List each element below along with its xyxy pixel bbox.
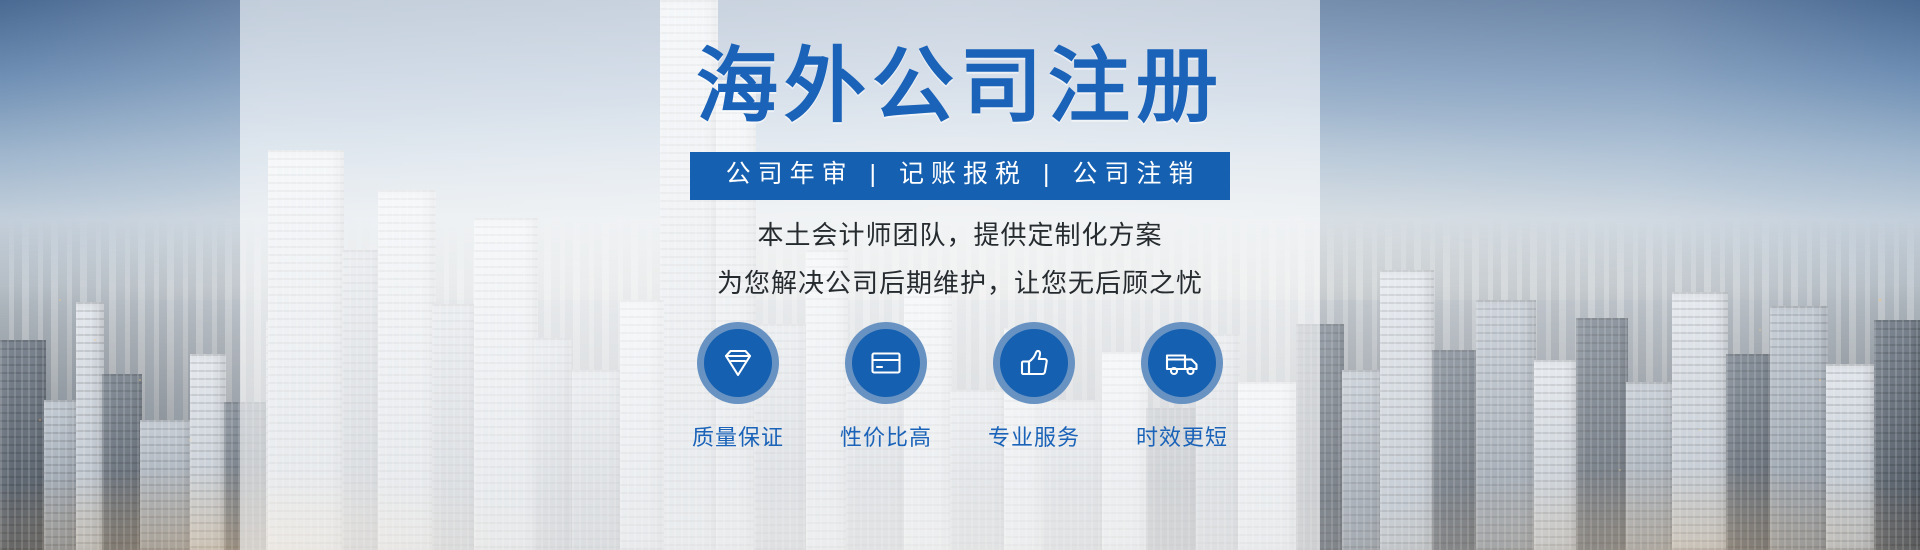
- service-item-3: 公司注销: [1072, 160, 1200, 188]
- truck-icon: [1141, 322, 1223, 404]
- service-item-1: 公司年审: [726, 160, 854, 188]
- service-separator-1: |: [868, 160, 886, 188]
- service-bar: 公司年审 | 记账报税 | 公司注销: [690, 152, 1231, 200]
- thumbs-up-icon: [993, 322, 1075, 404]
- banner-title: 海外公司注册: [696, 46, 1224, 128]
- feature-label: 专业服务: [988, 420, 1080, 452]
- feature-list: 质量保证 性价比高: [689, 322, 1231, 452]
- hero-banner: 海外公司注册 公司年审 | 记账报税 | 公司注销 本土会计师团队，提供定制化方…: [0, 0, 1920, 550]
- credit-card-icon: [845, 322, 927, 404]
- banner-content: 海外公司注册 公司年审 | 记账报税 | 公司注销 本土会计师团队，提供定制化方…: [0, 0, 1920, 550]
- description-line-1: 本土会计师团队，提供定制化方案: [757, 222, 1162, 248]
- service-item-2: 记账报税: [899, 160, 1027, 188]
- feature-item-speed[interactable]: 时效更短: [1133, 322, 1231, 452]
- feature-item-value[interactable]: 性价比高: [837, 322, 935, 452]
- feature-label: 质量保证: [692, 420, 784, 452]
- feature-label: 性价比高: [840, 420, 932, 452]
- feature-item-service[interactable]: 专业服务: [985, 322, 1083, 452]
- feature-label: 时效更短: [1136, 420, 1228, 452]
- feature-item-quality[interactable]: 质量保证: [689, 322, 787, 452]
- service-separator-2: |: [1041, 160, 1059, 188]
- description-line-2: 为您解决公司后期维护，让您无后顾之忧: [717, 270, 1203, 296]
- gem-icon: [697, 322, 779, 404]
